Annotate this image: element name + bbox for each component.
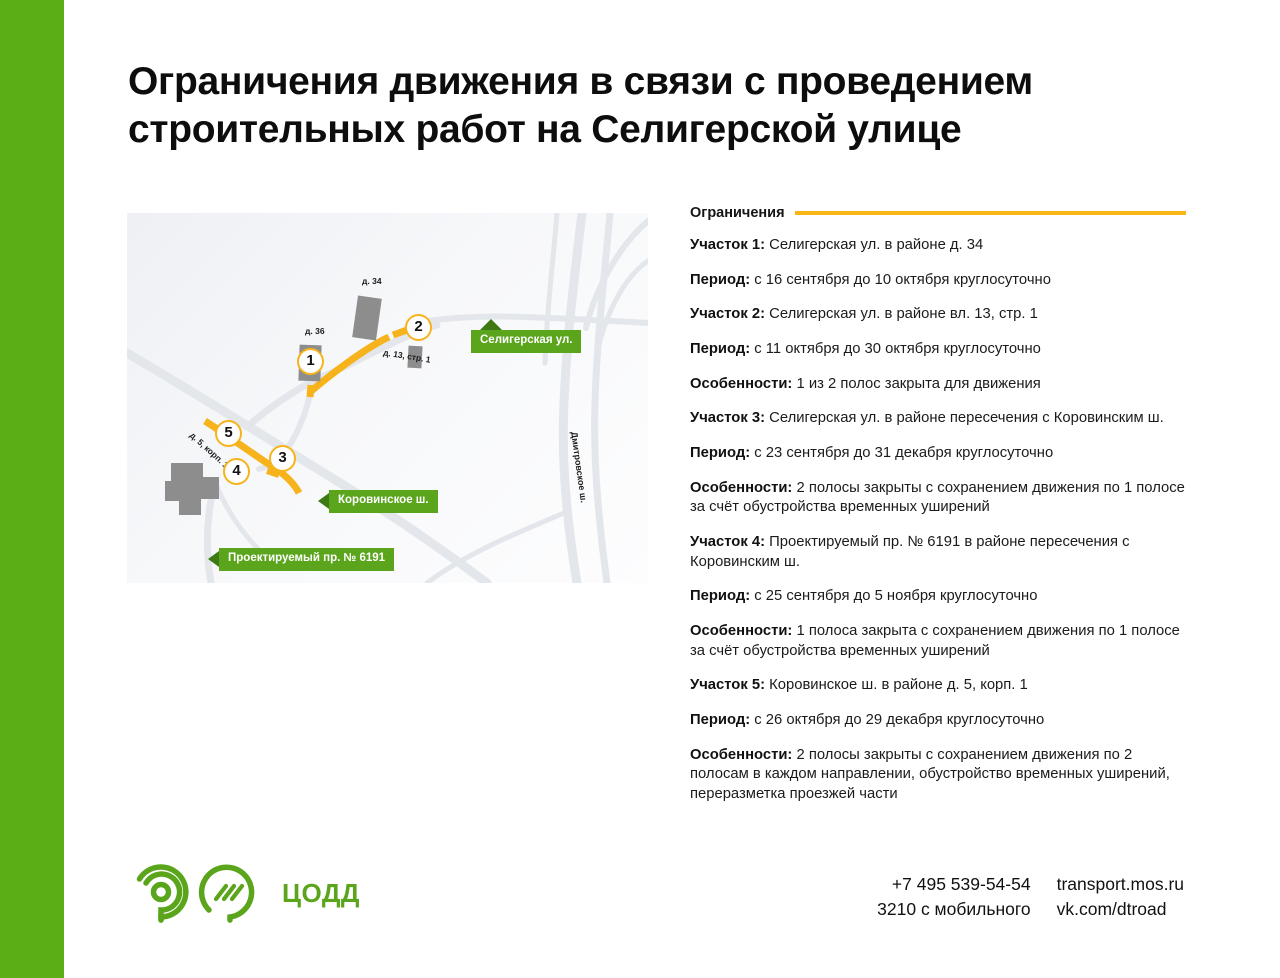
restriction-value: с 23 сентября до 31 декабря круглосуточн… [750,445,1053,461]
restriction-label: Период: [690,588,750,604]
restriction-value: Селигерская ул. в районе пересечения с К… [765,410,1164,426]
restriction-value: с 25 сентября до 5 ноября круглосуточно [750,588,1037,604]
restrictions-header: Ограничения [690,205,1186,221]
restriction-value: с 26 октября до 29 декабря круглосуточно [750,712,1044,728]
building-label-d34: д. 34 [362,276,382,286]
restriction-label: Особенности: [690,623,792,639]
restriction-label: Участок 1: [690,237,765,253]
building-label-d36: д. 36 [305,326,325,336]
restriction-segment-4 [279,471,299,493]
restriction-row: Участок 1: Селигерская ул. в районе д. 3… [690,236,1186,256]
restriction-label: Участок 2: [690,306,765,322]
restriction-row: Участок 3: Селигерская ул. в районе пере… [690,409,1186,429]
restriction-row: Особенности: 1 полоса закрыта с сохранен… [690,622,1186,661]
restriction-row: Период: с 11 октября до 30 октября кругл… [690,340,1186,360]
restriction-label: Период: [690,712,750,728]
page-title: Ограничения движения в связи с проведени… [128,58,1218,153]
map-marker-4[interactable]: 4 [223,458,250,485]
map-marker-5[interactable]: 5 [215,420,242,447]
restriction-row: Участок 5: Коровинское ш. в районе д. 5,… [690,676,1186,696]
restriction-label: Период: [690,341,750,357]
restriction-segment-3 [267,471,279,475]
restriction-row: Период: с 26 октября до 29 декабря кругл… [690,711,1186,731]
codd-logo-icon [130,862,270,924]
restriction-row: Особенности: 1 из 2 полос закрыта для дв… [690,375,1186,395]
restriction-value: Селигерская ул. в районе вл. 13, стр. 1 [765,306,1038,322]
logo-wordmark: ЦОДД [282,878,360,909]
restrictions-panel: Ограничения Участок 1: Селигерская ул. в… [690,205,1186,820]
restriction-label: Особенности: [690,747,792,763]
contact-social-link[interactable]: vk.com/dtroad [1057,897,1184,922]
restriction-label: Особенности: [690,480,792,496]
restriction-value: 1 из 2 полос закрыта для движения [792,376,1040,392]
contact-phone-mobile: 3210 с мобильного [877,897,1030,922]
heading-rule [795,211,1186,215]
label-pointer-icon [480,319,502,330]
restriction-label: Период: [690,445,750,461]
restrictions-heading: Ограничения [690,205,785,221]
restriction-row: Период: с 23 сентября до 31 декабря круг… [690,444,1186,464]
restriction-value: с 16 сентября до 10 октября круглосуточн… [750,272,1051,288]
map-marker-3[interactable]: 3 [269,445,296,472]
restriction-row: Участок 4: Проектируемый пр. № 6191 в ра… [690,533,1186,572]
restriction-label: Особенности: [690,376,792,392]
map-marker-1[interactable]: 1 [297,348,324,375]
restriction-row: Участок 2: Селигерская ул. в районе вл. … [690,305,1186,325]
map-label-korovinskoe: Коровинское ш. [329,490,438,513]
cod-logo: ЦОДД [130,862,360,924]
footer-contacts: +7 495 539-54-54 3210 с мобильного trans… [877,872,1184,923]
map-label-seligerskaya: Селигерская ул. [471,330,581,353]
map-label-proektiruemy-6191: Проектируемый пр. № 6191 [219,548,394,571]
map-roads [127,213,648,583]
map-panel[interactable]: д. 34 д. 36 д. 13, стр. 1 д. 5, корп. 1 … [127,213,648,583]
restriction-label: Период: [690,272,750,288]
restriction-row: Период: с 25 сентября до 5 ноября кругло… [690,587,1186,607]
restriction-label: Участок 3: [690,410,765,426]
contact-phone-main: +7 495 539-54-54 [877,872,1030,897]
restriction-label: Участок 5: [690,677,765,693]
restriction-label: Участок 4: [690,534,765,550]
restriction-row: Особенности: 2 полосы закрыты с сохранен… [690,746,1186,805]
restriction-value: Селигерская ул. в районе д. 34 [765,237,983,253]
contact-site-link[interactable]: transport.mos.ru [1057,872,1184,897]
restriction-value: с 11 октября до 30 октября круглосуточно [750,341,1041,357]
restriction-row: Особенности: 2 полосы закрыты с сохранен… [690,479,1186,518]
restriction-row: Период: с 16 сентября до 10 октября круг… [690,271,1186,291]
map-marker-2[interactable]: 2 [405,314,432,341]
brand-side-bar [0,0,64,978]
restriction-value: Коровинское ш. в районе д. 5, корп. 1 [765,677,1028,693]
label-pointer-icon [318,493,329,509]
label-pointer-icon [208,551,219,567]
